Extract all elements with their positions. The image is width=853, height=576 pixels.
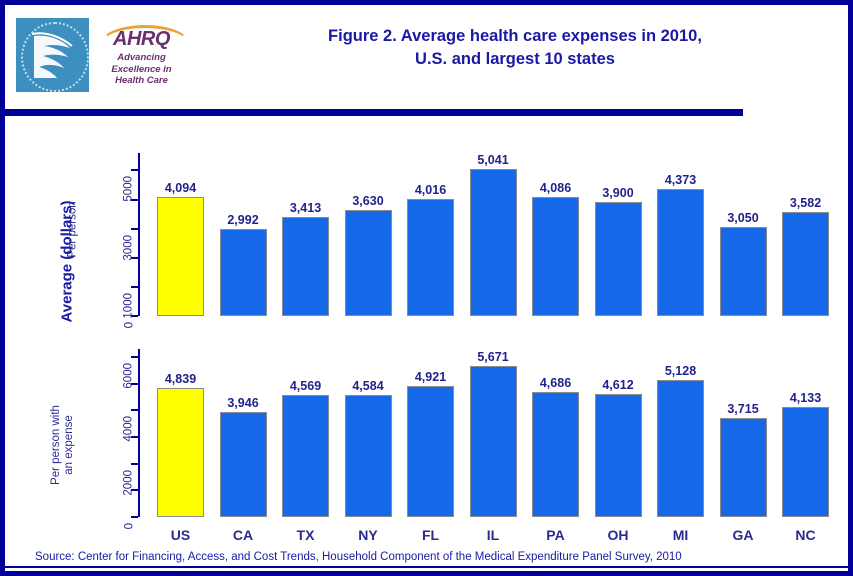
plot-area-per-person-with-an-expense: 02000400060004,8393,9464,5694,5844,9215,… [138, 349, 838, 517]
panel-label-per-person-with-an-expense: Per person with an expense [50, 405, 76, 485]
source-divider [5, 566, 848, 568]
bar-us[interactable]: 4,839 [157, 388, 204, 517]
ahrq-tagline-line2: Excellence in [89, 64, 194, 76]
ahrq-wordmark: AHRQ [94, 25, 190, 50]
bar-fl[interactable]: 4,921 [407, 386, 454, 517]
bar-value-label: 4,921 [415, 370, 446, 384]
figure-page: AHRQ Advancing Excellence in Health Care… [0, 0, 853, 576]
bar-nc[interactable]: 3,582 [782, 212, 829, 316]
x-axis-label-tx: TX [282, 527, 329, 543]
bar-value-label: 3,900 [602, 186, 633, 200]
ahrq-wordmark-block: AHRQ Advancing Excellence in Health Care [89, 18, 194, 92]
y-axis-tick [131, 463, 138, 465]
bar-value-label: 4,612 [602, 378, 633, 392]
x-axis-label-us: US [157, 527, 204, 543]
bar-value-label: 4,086 [540, 181, 571, 195]
page-title-line1: Figure 2. Average health care expenses i… [205, 25, 825, 48]
x-axis-label-oh: OH [595, 527, 642, 543]
y-axis-line [138, 153, 140, 316]
bar-value-label: 4,016 [415, 183, 446, 197]
ahrq-tagline-line3: Health Care [89, 75, 194, 87]
x-axis-label-fl: FL [407, 527, 454, 543]
bar-nc[interactable]: 4,133 [782, 407, 829, 517]
bar-ga[interactable]: 3,050 [720, 227, 767, 316]
bar-mi[interactable]: 4,373 [657, 189, 704, 316]
x-axis-label-ga: GA [720, 527, 767, 543]
bar-tx[interactable]: 4,569 [282, 395, 329, 517]
y-axis-tick [131, 516, 138, 518]
bar-value-label: 4,094 [165, 181, 196, 195]
bar-value-label: 3,050 [727, 211, 758, 225]
bar-value-label: 5,128 [665, 364, 696, 378]
bar-value-label: 3,630 [352, 194, 383, 208]
x-axis-label-ca: CA [220, 527, 267, 543]
page-title: Figure 2. Average health care expenses i… [205, 25, 825, 71]
bar-value-label: 3,715 [727, 402, 758, 416]
bar-fl[interactable]: 4,016 [407, 199, 454, 316]
chart-per-person: 01000300050004,0942,9923,4133,6304,0165,… [5, 133, 848, 333]
bar-ca[interactable]: 2,992 [220, 229, 267, 316]
y-axis-line [138, 349, 140, 517]
y-axis-tick [131, 356, 138, 358]
bar-ny[interactable]: 3,630 [345, 210, 392, 316]
page-title-line2: U.S. and largest 10 states [205, 48, 825, 71]
panel-label-per-person: Per person [67, 201, 80, 257]
bar-value-label: 4,569 [290, 379, 321, 393]
bar-value-label: 3,582 [790, 196, 821, 210]
bar-value-label: 4,686 [540, 376, 571, 390]
bar-value-label: 4,373 [665, 173, 696, 187]
x-axis-label-pa: PA [532, 527, 579, 543]
y-axis-tick [131, 228, 138, 230]
bar-mi[interactable]: 5,128 [657, 380, 704, 517]
ahrq-tagline: Advancing Excellence in Health Care [89, 52, 194, 87]
bar-ga[interactable]: 3,715 [720, 418, 767, 517]
hhs-eagle-icon [28, 28, 78, 82]
bar-value-label: 2,992 [227, 213, 258, 227]
bar-value-label: 4,839 [165, 372, 196, 386]
bar-il[interactable]: 5,041 [470, 169, 517, 316]
y-axis-tick [131, 409, 138, 411]
ahrq-tagline-line1: Advancing [89, 52, 194, 64]
bar-tx[interactable]: 3,413 [282, 217, 329, 316]
bar-us[interactable]: 4,094 [157, 197, 204, 316]
bar-value-label: 3,946 [227, 396, 258, 410]
bar-oh[interactable]: 4,612 [595, 394, 642, 517]
bar-value-label: 5,041 [477, 153, 508, 167]
bar-oh[interactable]: 3,900 [595, 202, 642, 316]
header-divider [5, 109, 743, 116]
y-axis-tick [131, 286, 138, 288]
page-header: AHRQ Advancing Excellence in Health Care… [5, 5, 848, 102]
ahrq-logo: AHRQ Advancing Excellence in Health Care [16, 18, 194, 92]
bar-value-label: 3,413 [290, 201, 321, 215]
x-axis-label-nc: NC [782, 527, 829, 543]
bar-value-label: 5,671 [477, 350, 508, 364]
y-axis-tick [131, 169, 138, 171]
bar-value-label: 4,133 [790, 391, 821, 405]
source-note: Source: Center for Financing, Access, an… [35, 551, 682, 563]
bar-ny[interactable]: 4,584 [345, 395, 392, 517]
x-axis-label-mi: MI [657, 527, 704, 543]
ahrq-wordmark-text: AHRQ [94, 29, 190, 50]
x-axis-label-ny: NY [345, 527, 392, 543]
bar-il[interactable]: 5,671 [470, 366, 517, 517]
hhs-seal-icon [16, 18, 89, 92]
plot-area-per-person: 01000300050004,0942,9923,4133,6304,0165,… [138, 153, 838, 316]
bar-pa[interactable]: 4,086 [532, 197, 579, 316]
bar-pa[interactable]: 4,686 [532, 392, 579, 517]
bar-value-label: 4,584 [352, 379, 383, 393]
chart-per-person-with-an-expense: 02000400060004,8393,9464,5694,5844,9215,… [5, 337, 848, 547]
bar-ca[interactable]: 3,946 [220, 412, 267, 517]
x-axis-label-il: IL [470, 527, 517, 543]
